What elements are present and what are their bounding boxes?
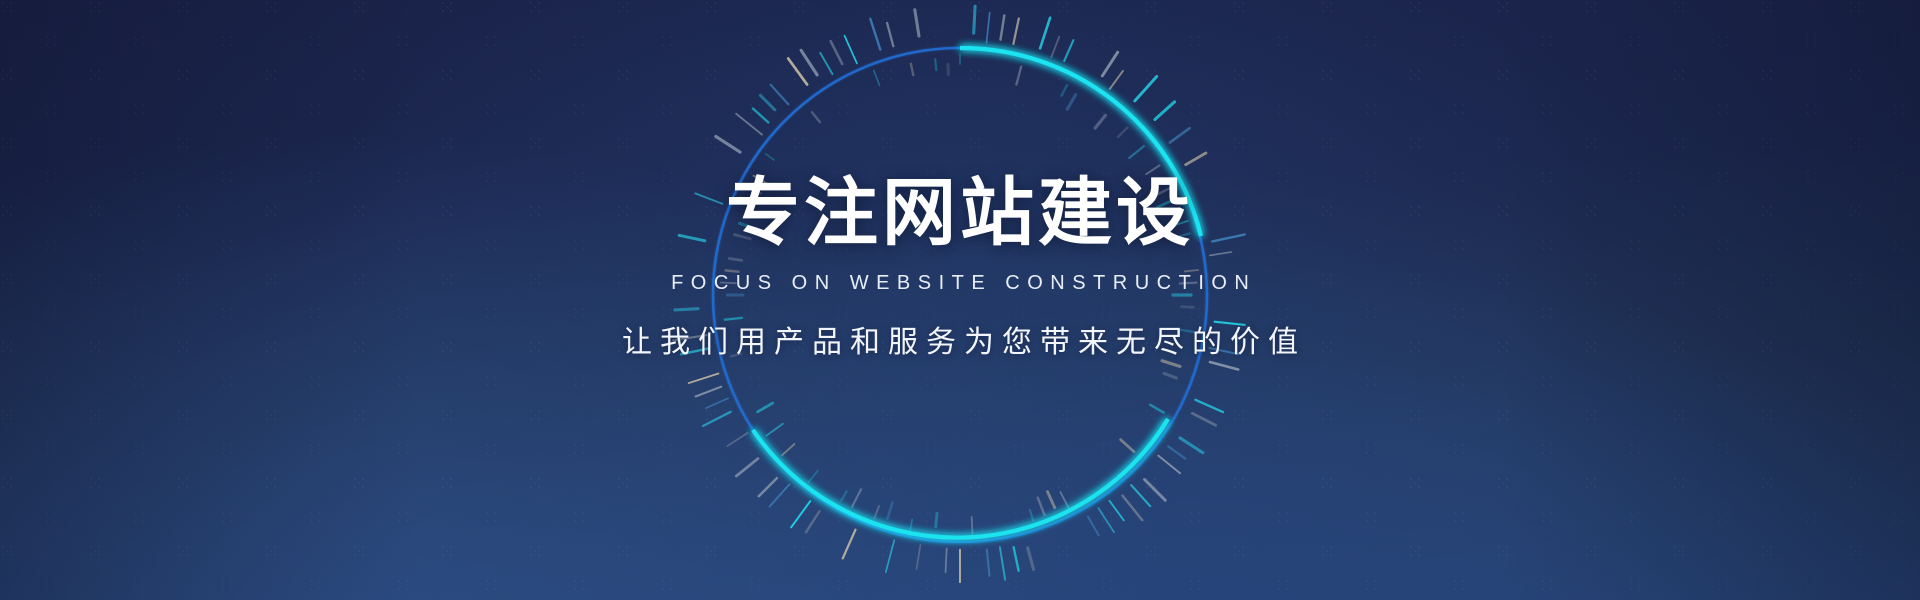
ring-tick <box>820 53 832 74</box>
ring-tick <box>806 511 820 532</box>
ring-tick <box>887 23 893 46</box>
ring-tick <box>801 50 817 75</box>
ring-tick <box>1038 498 1045 515</box>
ring-tick <box>974 6 975 33</box>
ring-tick <box>843 530 856 559</box>
ring-tick <box>935 59 936 70</box>
ring-tick <box>1118 128 1127 137</box>
ring-tick <box>771 85 789 105</box>
ring-tick <box>1164 373 1176 378</box>
ring-tick <box>791 501 810 527</box>
ring-tick <box>703 412 731 426</box>
ring-tick <box>760 95 774 109</box>
ring-tick <box>1001 16 1005 40</box>
ring-tick <box>875 506 880 518</box>
ring-tick <box>972 517 973 534</box>
ring-tick <box>936 513 937 526</box>
ring-tick <box>831 41 843 64</box>
ring-tick <box>1158 456 1180 474</box>
ring-tick <box>845 36 857 64</box>
ring-tick <box>696 387 722 397</box>
ring-tick <box>1155 102 1175 120</box>
ring-tick <box>1102 52 1117 76</box>
ring-tick <box>1170 128 1190 142</box>
hero-copy-block: 专注网站建设 FOCUS ON WEBSITE CONSTRUCTION 让我们… <box>0 176 1920 361</box>
ring-tick <box>716 136 740 152</box>
ring-tick <box>1060 492 1069 509</box>
ring-tick <box>1210 362 1238 370</box>
ring-tick <box>759 478 777 496</box>
ring-tick <box>946 549 947 573</box>
ring-tick <box>1168 446 1185 458</box>
ring-tick <box>788 59 807 85</box>
ring-tick <box>1110 71 1123 89</box>
ring-tick <box>1123 496 1143 521</box>
ring-tick <box>948 64 949 74</box>
ring-tick <box>1062 85 1068 96</box>
ring-tick <box>987 13 990 43</box>
ring-tick <box>1048 492 1055 508</box>
page-subtitle-english: FOCUS ON WEBSITE CONSTRUCTION <box>0 272 1920 295</box>
ring-tick <box>736 114 762 135</box>
ring-tick <box>1088 517 1099 536</box>
ring-tick <box>736 459 758 477</box>
ring-tick <box>917 545 921 569</box>
ring-tick <box>915 10 919 36</box>
ring-tick <box>841 492 846 501</box>
hero-banner: 专注网站建设 FOCUS ON WEBSITE CONSTRUCTION 让我们… <box>0 0 1920 600</box>
ring-tick <box>870 19 880 50</box>
ring-tick <box>1098 508 1114 532</box>
ring-tick <box>1195 400 1223 412</box>
ring-tick <box>1121 440 1134 452</box>
ring-tick <box>1014 547 1019 571</box>
ring-tick <box>1013 19 1018 44</box>
ring-tick <box>1110 501 1124 521</box>
ring-tick <box>1051 37 1059 58</box>
ring-tick <box>1067 95 1075 110</box>
ring-tick <box>689 374 719 384</box>
ring-tick <box>770 484 790 506</box>
ring-tick <box>910 520 912 530</box>
ring-tick <box>1162 361 1180 367</box>
page-title: 专注网站建设 <box>0 176 1920 250</box>
ring-tick <box>886 540 895 572</box>
ring-tick <box>767 424 783 436</box>
ring-tick <box>874 70 880 85</box>
ring-tick <box>1145 480 1166 501</box>
ring-tick <box>1180 438 1203 453</box>
ring-tick <box>1030 510 1033 521</box>
ring-tick <box>758 403 773 412</box>
ring-tick <box>852 489 861 507</box>
ring-tick <box>1131 485 1150 506</box>
ring-tick <box>1000 547 1005 580</box>
ring-tick <box>1135 77 1157 101</box>
ring-tick <box>706 398 728 408</box>
ring-tick <box>809 471 818 482</box>
ring-tick <box>1192 413 1215 425</box>
ring-tick <box>911 64 913 76</box>
ring-tick <box>753 109 768 123</box>
ring-tick <box>1028 548 1034 570</box>
ring-tick <box>1129 146 1144 158</box>
ring-tick <box>727 433 747 446</box>
ring-tick <box>1016 67 1021 85</box>
ring-tick <box>782 444 795 455</box>
ring-tick <box>812 112 820 122</box>
ring-tick <box>987 550 990 576</box>
ring-tick <box>766 154 774 160</box>
ring-tick <box>887 503 892 519</box>
ring-tick <box>1040 18 1050 49</box>
page-tagline: 让我们用产品和服务为您带来无尽的价值 <box>0 317 1920 361</box>
ring-tick <box>1095 115 1105 128</box>
ring-tick <box>1186 153 1206 165</box>
ring-tick <box>1064 40 1073 61</box>
ring-tick <box>1150 405 1163 413</box>
